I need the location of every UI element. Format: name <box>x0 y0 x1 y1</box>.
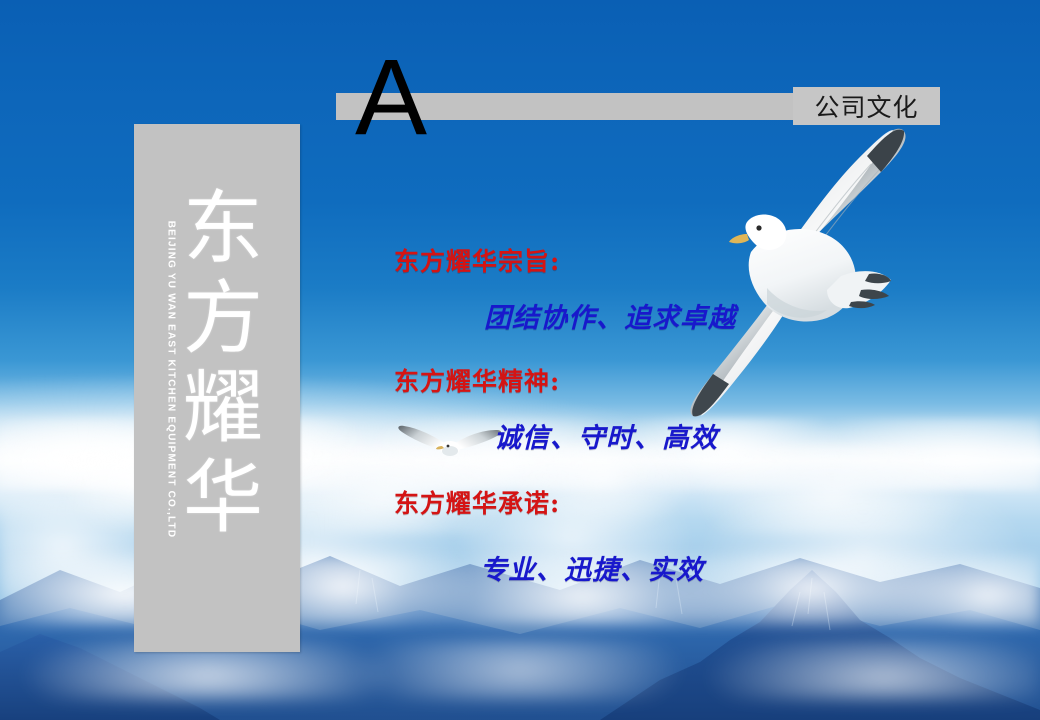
block-heading: 东方耀华承诺: <box>394 484 704 520</box>
section-letter: A <box>355 43 427 151</box>
slide-title: 公司文化 <box>814 88 918 124</box>
content-block: 东方耀华精神: 诚信、守时、高效 <box>394 362 718 455</box>
block-heading: 东方耀华精神: <box>394 362 718 398</box>
content-block: 东方耀华承诺: 专业、迅捷、实效 <box>394 484 704 587</box>
slide-title-box: 公司文化 <box>793 87 940 125</box>
block-value: 团结协作、追求卓越 <box>484 296 736 335</box>
block-value: 专业、迅捷、实效 <box>480 548 704 587</box>
block-heading: 东方耀华宗旨: <box>394 242 736 278</box>
content-block: 东方耀华宗旨: 团结协作、追求卓越 <box>394 242 736 335</box>
slide-canvas: 东 方 耀 华 BEIJING YU WAN EAST KITCHEN EQUI… <box>0 0 1040 720</box>
company-name-en: BEIJING YU WAN EAST KITCHEN EQUIPMENT CO… <box>166 215 177 545</box>
company-name-panel: 东 方 耀 华 BEIJING YU WAN EAST KITCHEN EQUI… <box>134 124 300 652</box>
block-value: 诚信、守时、高效 <box>494 416 718 455</box>
company-name-cn: 东 方 耀 华 <box>168 184 278 542</box>
